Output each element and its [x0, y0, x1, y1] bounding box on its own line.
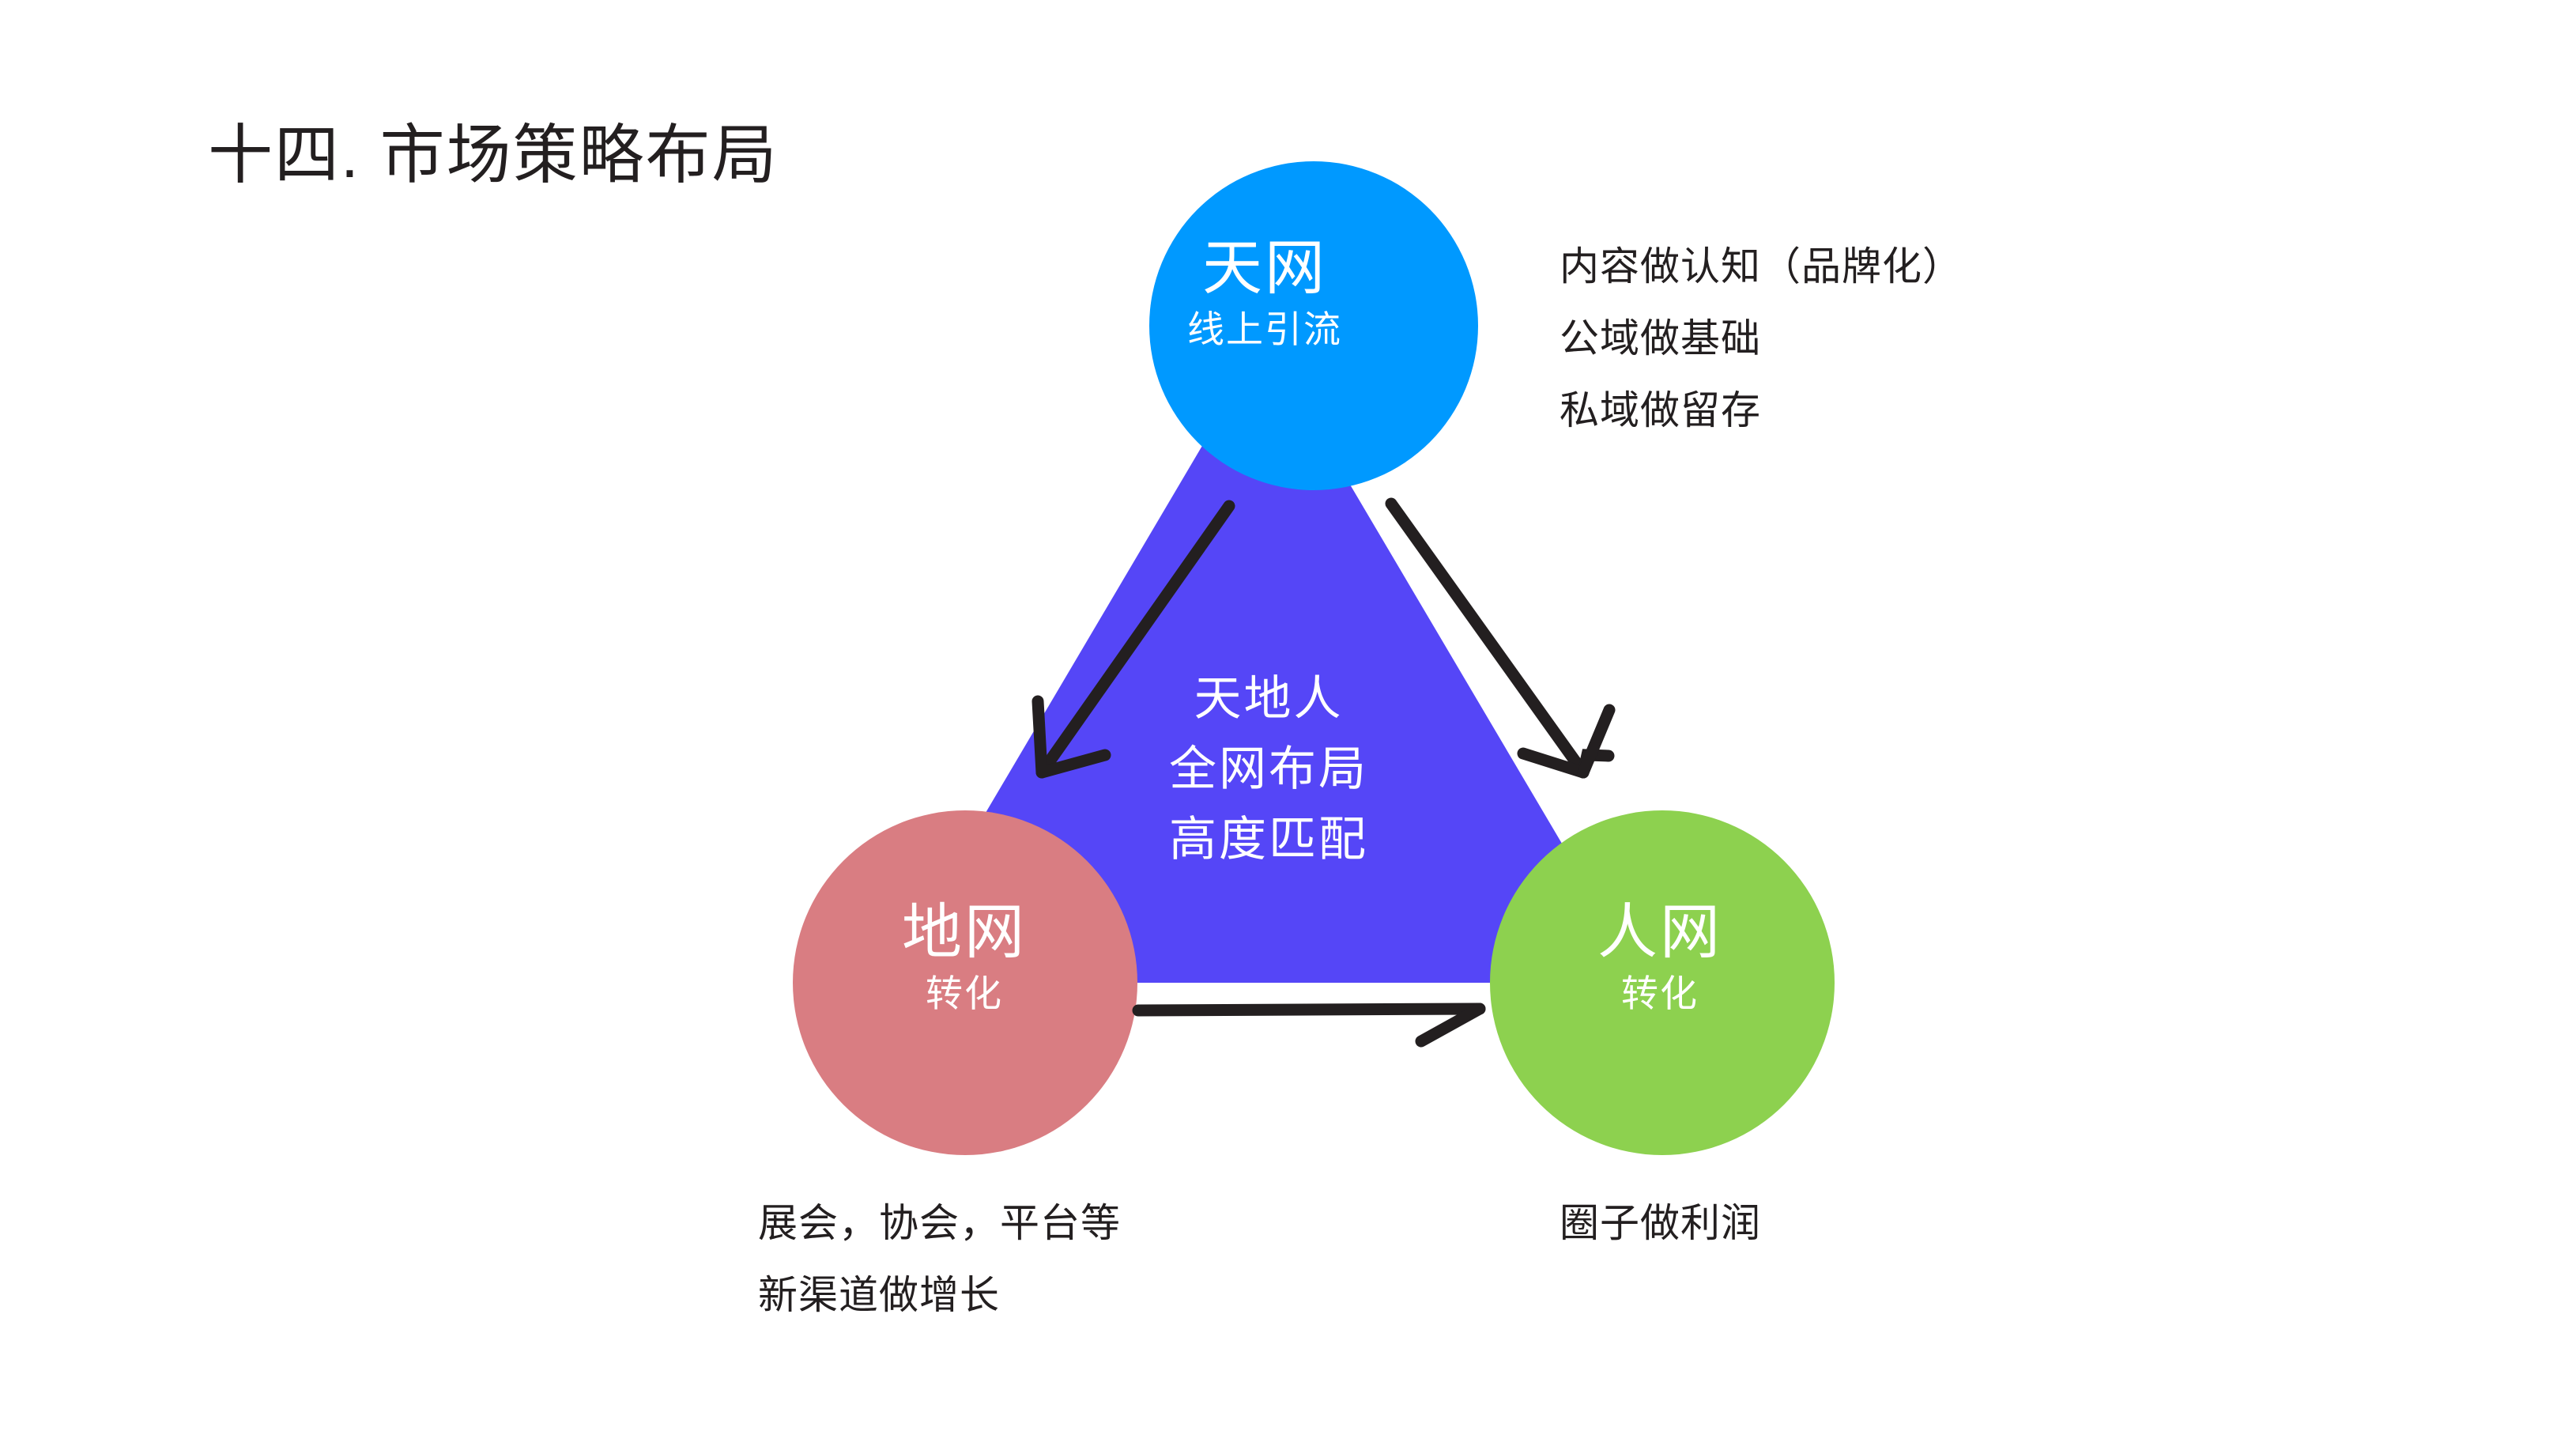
annotation-bottom-left: 展会，协会，平台等 新渠道做增长 — [758, 1188, 1121, 1331]
triangle-relationship-diagram: 天网 线上引流 地网 转化 人网 转化 天地人 全网布局 高度匹配 内容做认知（… — [0, 0, 2576, 1450]
node-circle-renwang[interactable] — [1490, 810, 1835, 1155]
node-circle-tianwang[interactable] — [1149, 161, 1478, 490]
annotation-bottom-right-line-1: 圈子做利润 — [1560, 1188, 1761, 1259]
arrow-left-to-right — [1138, 1009, 1480, 1041]
annotation-bottom-left-line-2: 新渠道做增长 — [758, 1259, 1121, 1331]
slide-canvas: 十四. 市场策略布局 — [0, 0, 2576, 1450]
annotation-bottom-right: 圈子做利润 — [1560, 1188, 1761, 1259]
annotation-top-right-line-2: 公域做基础 — [1560, 303, 1963, 375]
annotation-top-right-line-1: 内容做认知（品牌化） — [1560, 231, 1963, 303]
diagram-shapes — [0, 0, 2576, 1450]
node-circle-diwang[interactable] — [793, 810, 1137, 1155]
annotation-bottom-left-line-1: 展会，协会，平台等 — [758, 1188, 1121, 1259]
annotation-top-right: 内容做认知（品牌化） 公域做基础 私域做留存 — [1560, 231, 1963, 447]
annotation-top-right-line-3: 私域做留存 — [1560, 375, 1963, 447]
